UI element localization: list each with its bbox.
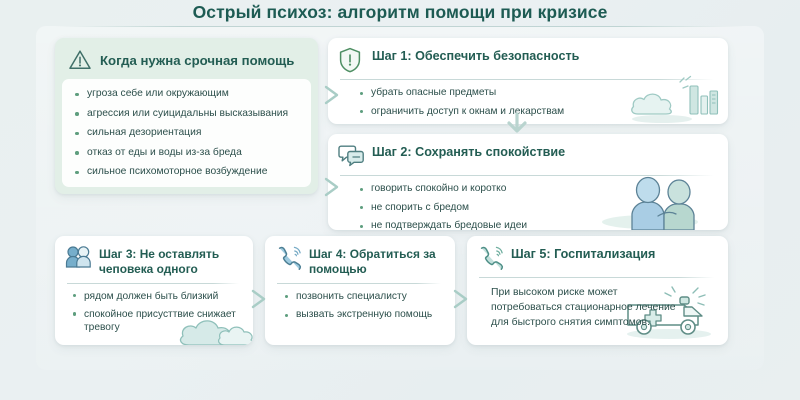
step3-header: Шаг 3: Не оставлять чеповека одного: [65, 245, 241, 277]
list-item: убрать опасные предметы: [360, 87, 716, 98]
list-item: угроза себе или окружающим: [74, 88, 301, 99]
step4-list: позвонить специалисту вызвать экстренную…: [275, 291, 443, 321]
step5-divider: [479, 277, 714, 278]
list-item: отказ от еды и воды из-за бреда: [74, 147, 301, 158]
step2-title: Шаг 2: Сохранять спокойствие: [372, 143, 565, 161]
step2-list: говорить спокойно и коротко не спорить с…: [338, 183, 716, 230]
list-item: сильное психомоторное возбуждение: [74, 166, 301, 177]
page-title: Острый психоз: алгоритм помощи при кризи…: [0, 2, 800, 23]
step3-title: Шаг 3: Не оставлять чеповека одного: [99, 245, 241, 277]
phone-ring-icon: [477, 245, 503, 271]
title-divider: [55, 26, 745, 27]
warning-list: угроза себе или окружающим агрессия или …: [74, 88, 301, 177]
step4-divider: [277, 283, 441, 284]
step4-card: Шаг 4: Обратиться за помощью позвонить с…: [265, 236, 455, 345]
step2-card: Шаг 2: Сохранять спокойствие говорить сп…: [328, 134, 728, 230]
warning-list-panel: угроза себе или окружающим агрессия или …: [62, 79, 311, 187]
list-item: говорить спокойно и коротко: [360, 183, 716, 194]
list-item: агрессия или суицидальны высказывания: [74, 108, 301, 119]
warning-title: Когда нужна срочная помощь: [100, 53, 294, 68]
two-persons-icon: [65, 245, 91, 271]
step1-header: Шаг 1: Обеспечить безопасность: [338, 47, 716, 73]
arrow-warning-to-step1: [322, 84, 344, 106]
list-item: вызвать экстренную помощь: [285, 309, 443, 320]
shield-exclamation-icon: [338, 47, 364, 73]
list-item: рядом должен быть близкий: [73, 290, 241, 303]
list-item: не спорить с бредом: [360, 202, 716, 213]
arrow-warning-to-step2: [322, 176, 344, 198]
speech-bubbles-icon: [338, 143, 364, 169]
step4-header: Шаг 4: Обратиться за помощью: [275, 245, 443, 277]
warning-header: Когда нужна срочная помощь: [62, 45, 311, 75]
list-item: спокойное присусттвие снижает тревогу: [73, 308, 241, 335]
step1-title: Шаг 1: Обеспечить безопасность: [372, 47, 579, 65]
infographic-canvas: Острый психоз: алгоритм помощи при кризи…: [0, 0, 800, 400]
list-item: сильная дезориентация: [74, 127, 301, 138]
warning-triangle-icon: [68, 49, 92, 71]
step2-header: Шаг 2: Сохранять спокойствие: [338, 143, 716, 169]
step5-paragraph: При высоком риске может потребоваться ст…: [477, 285, 677, 330]
step5-card: Шаг 5: Госпитализация При высоком риске …: [467, 236, 728, 345]
step4-title: Шаг 4: Обратиться за помощью: [309, 245, 443, 277]
step2-divider: [340, 175, 714, 176]
step5-header: Шаг 5: Госпитализация: [477, 245, 716, 271]
arrow-step1-to-step2: [504, 112, 530, 136]
step3-divider: [67, 283, 239, 284]
list-item: не подтверждать бредовые идеи: [360, 220, 716, 230]
warning-card: Когда нужна срочная помощь угроза себе и…: [55, 38, 318, 194]
list-item: позвонить специалисту: [285, 291, 443, 302]
step3-list: рядом должен быть близкий спокойное прис…: [65, 290, 241, 335]
step1-divider: [340, 79, 714, 80]
arrow-step3-to-step4: [249, 288, 271, 310]
phone-ring-icon: [275, 245, 301, 271]
step3-card: Шаг 3: Не оставлять чеповека одного рядо…: [55, 236, 253, 345]
arrow-step4-to-step5: [451, 288, 473, 310]
list-item: ограничить доступ к окнам и лекарствам: [360, 106, 716, 117]
step5-title: Шаг 5: Госпитализация: [511, 245, 655, 263]
